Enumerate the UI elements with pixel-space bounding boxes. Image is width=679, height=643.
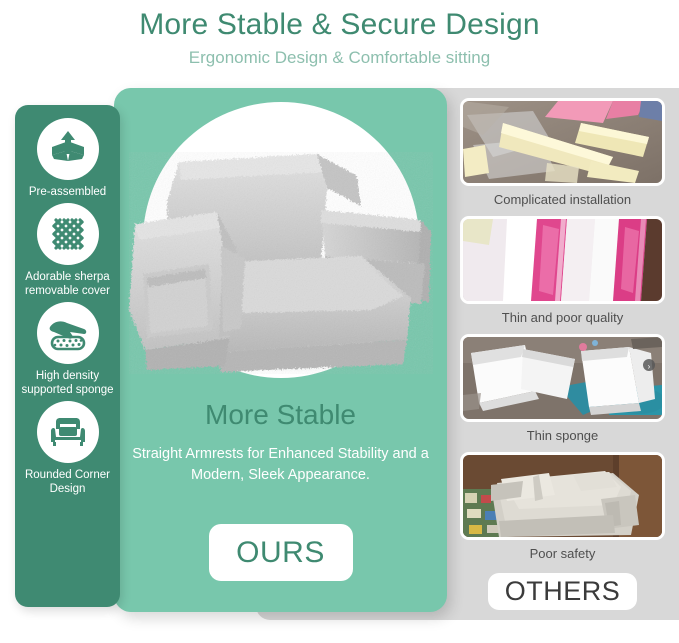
header: More Stable & Secure Design Ergonomic De…	[0, 0, 679, 86]
other-card: › Thin sponge	[460, 334, 665, 450]
features-panel: Pre-assembled Adorable sherpa removable …	[15, 105, 120, 607]
feature-label: Pre-assembled	[16, 185, 119, 199]
feature-label: Adorable sherpa removable cover	[16, 270, 119, 298]
armchair-icon	[37, 401, 99, 463]
other-caption: Thin sponge	[527, 422, 599, 450]
feature-item-high-density-sponge: High density supported sponge	[16, 302, 119, 397]
ours-description: Straight Armrests for Enhanced Stability…	[114, 444, 447, 486]
other-caption: Complicated installation	[494, 186, 631, 214]
open-box-arrow-icon	[37, 118, 99, 180]
feature-label: High density supported sponge	[16, 369, 119, 397]
other-caption: Thin and poor quality	[502, 304, 623, 332]
other-card: Complicated installation	[460, 98, 665, 214]
page-title: More Stable & Secure Design	[0, 6, 679, 44]
ours-badge: OURS	[209, 524, 353, 581]
feature-item-sherpa-cover: Adorable sherpa removable cover	[16, 203, 119, 298]
other-photo-thin-sponge: ›	[460, 334, 665, 422]
feature-label: Rounded Corner Design	[16, 468, 119, 496]
other-card: Poor safety	[460, 452, 665, 568]
feature-item-rounded-corner: Rounded Corner Design	[16, 401, 119, 496]
hand-pressing-sponge-icon	[37, 302, 99, 364]
other-photo-thin-poor-quality	[460, 216, 665, 304]
svg-text:›: ›	[648, 362, 651, 371]
ours-heading: More Stable	[114, 398, 447, 432]
other-photo-complicated-installation	[460, 98, 665, 186]
woven-fabric-icon	[37, 203, 99, 265]
feature-item-pre-assembled: Pre-assembled	[16, 118, 119, 199]
others-card-list: Complicated installation	[456, 98, 669, 610]
other-card: Thin and poor quality	[460, 216, 665, 332]
page-subtitle: Ergonomic Design & Comfortable sitting	[0, 46, 679, 70]
others-badge: OTHERS	[488, 573, 637, 610]
other-caption: Poor safety	[530, 540, 596, 568]
infographic-root: More Stable & Secure Design Ergonomic De…	[0, 0, 679, 643]
product-image-armchair	[121, 114, 441, 384]
other-photo-poor-safety	[460, 452, 665, 540]
ours-panel: More Stable Straight Armrests for Enhanc…	[114, 88, 447, 612]
